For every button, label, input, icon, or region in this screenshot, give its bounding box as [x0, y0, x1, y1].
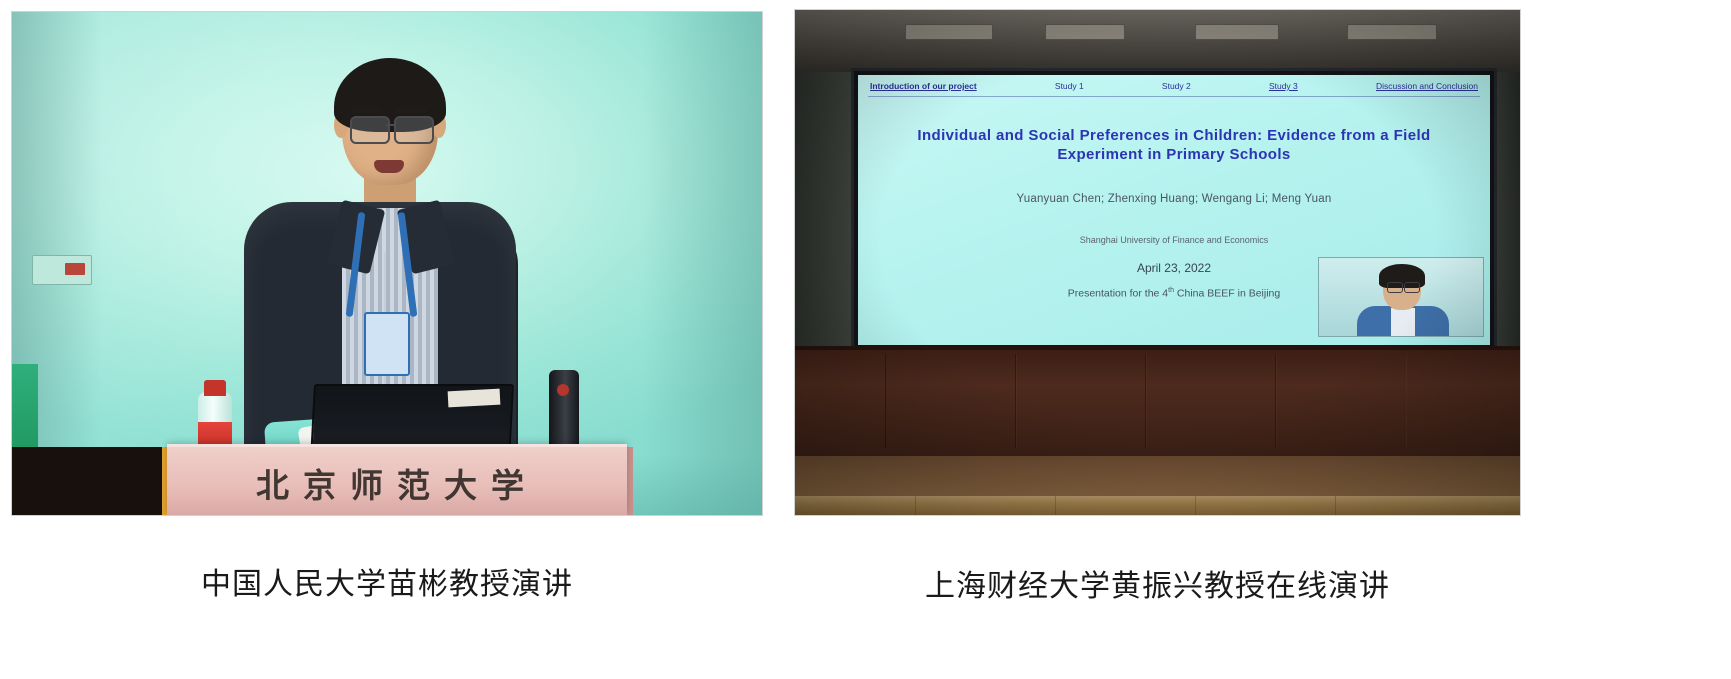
figure-left: 北京师范大学 中国人民大学苗彬教授演讲 — [12, 12, 762, 603]
slide-tab-study-3[interactable]: Study 3 — [1269, 81, 1298, 91]
slide-affiliation: Shanghai University of Finance and Econo… — [878, 235, 1470, 245]
webcam-inset — [1318, 257, 1484, 337]
caption-right: 上海财经大学黄振兴教授在线演讲 — [795, 561, 1520, 605]
projection-screen: Introduction of our project Study 1 Stud… — [851, 68, 1497, 352]
presentation-slide: Introduction of our project Study 1 Stud… — [858, 75, 1490, 345]
glasses-lens-right — [394, 116, 434, 144]
photo-auditorium: Introduction of our project Study 1 Stud… — [795, 10, 1520, 515]
auditorium-side-wall-right — [1494, 72, 1520, 352]
auditorium-ceiling — [795, 10, 1520, 72]
ceiling-panel — [1195, 24, 1279, 40]
figure-page: 北京师范大学 中国人民大学苗彬教授演讲 Introduction — [0, 0, 1731, 679]
glasses-bridge — [386, 124, 396, 126]
photo-lecture-hall: 北京师范大学 — [12, 12, 762, 515]
auditorium-floor — [795, 496, 1520, 515]
slide-tab-study-2[interactable]: Study 2 — [1162, 81, 1191, 91]
speaker-mouth — [374, 160, 404, 173]
floor-seam — [1335, 496, 1336, 515]
lectern-panel: 北京师范大学 — [167, 444, 627, 515]
ceiling-panel — [1045, 24, 1125, 40]
slide-title: Individual and Social Preferences in Chi… — [888, 127, 1460, 165]
water-bottle-cap — [204, 380, 226, 396]
laptop-paper-note — [448, 389, 501, 408]
speaker-brow-right — [395, 108, 427, 113]
webcam-glasses-left — [1387, 282, 1403, 293]
wood-wall-panel — [1275, 354, 1407, 448]
slide-tab-study-1[interactable]: Study 1 — [1055, 81, 1084, 91]
wood-wall-panel — [885, 354, 1017, 448]
slide-venue-prefix: Presentation for the 4 — [1068, 288, 1168, 300]
wood-wall-panel — [1145, 354, 1277, 448]
slide-venue-suffix: China BEEF in Beijing — [1174, 288, 1280, 300]
auditorium-side-wall-left — [795, 72, 851, 352]
webcam-glasses-right — [1404, 282, 1420, 293]
name-badge — [364, 312, 410, 376]
lectern-calligraphy-text: 北京师范大学 — [167, 459, 627, 507]
slide-tab-discussion-conclusion[interactable]: Discussion and Conclusion — [1376, 81, 1478, 91]
wood-wall-panel — [1015, 354, 1147, 448]
glasses-lens-left — [350, 116, 390, 144]
ceiling-panel — [1347, 24, 1437, 40]
slide-authors: Yuanyuan Chen; Zhenxing Huang; Wengang L… — [878, 193, 1470, 205]
figure-right: Introduction of our project Study 1 Stud… — [795, 10, 1520, 605]
caption-left: 中国人民大学苗彬教授演讲 — [12, 559, 762, 603]
ceiling-panel — [905, 24, 993, 40]
auditorium-wall-seam — [795, 346, 1520, 350]
figure-row: 北京师范大学 中国人民大学苗彬教授演讲 Introduction — [0, 0, 1731, 679]
floor-seam — [1055, 496, 1056, 515]
floor-seam — [1195, 496, 1196, 515]
webcam-speaker-shirt — [1391, 308, 1415, 337]
speaker-brow-left — [351, 108, 383, 113]
auditorium-stage-edge — [795, 456, 1520, 496]
floor-seam — [915, 496, 916, 515]
slide-tab-divider — [868, 96, 1480, 97]
slide-nav-tabs: Introduction of our project Study 1 Stud… — [858, 81, 1490, 91]
table-dark-left — [12, 447, 167, 515]
slide-tab-introduction[interactable]: Introduction of our project — [870, 81, 977, 91]
